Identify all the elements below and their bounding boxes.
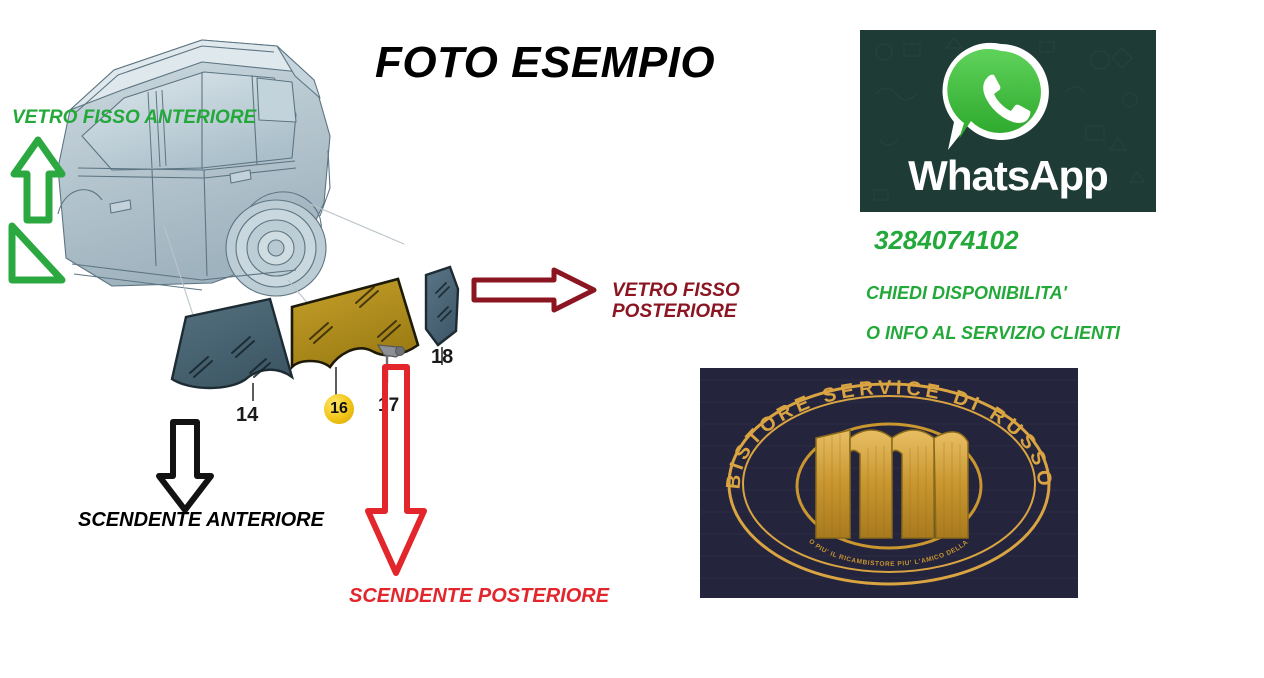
part-front-door-glass [172,299,292,401]
contact-line-1: CHIEDI DISPONIBILITA' [866,283,1120,303]
label-front-drop-glass: SCENDENTE ANTERIORE [78,509,324,531]
part-number-14: 14 [236,404,258,427]
whatsapp-wordmark: WhatsApp [860,152,1156,200]
phone-number[interactable]: 3284074102 [874,225,1019,256]
contact-instructions: CHIEDI DISPONIBILITA' O INFO AL SERVIZIO… [866,263,1120,364]
arrow-right-maroon-icon [470,266,598,314]
arrow-down-black-icon [155,418,215,514]
label-rear-fixed-glass: VETRO FISSO POSTERIORE [612,280,740,323]
part-number-18: 18 [431,346,453,369]
whatsapp-banner[interactable]: WhatsApp [860,30,1156,212]
whatsapp-phone-bubble-icon [938,38,1064,158]
part-number-badge-16: 16 [324,394,354,424]
shop-logo: MRICAMBISTORE SERVICE DI RUSSO MARCO IL … [700,368,1078,598]
triangle-green-icon [6,222,68,288]
arrow-up-green-icon [8,136,70,226]
page-title: FOTO ESEMPIO [375,38,715,88]
shop-logo-graphic: MRICAMBISTORE SERVICE DI RUSSO MARCO IL … [700,368,1078,598]
contact-line-2: O INFO AL SERVIZIO CLIENTI [866,323,1120,343]
label-rear-drop-glass: SCENDENTE POSTERIORE [349,585,609,607]
exploded-glass-parts [150,255,480,415]
label-front-fixed-glass: VETRO FISSO ANTERIORE [12,107,256,128]
arrow-down-red-icon [362,363,430,578]
